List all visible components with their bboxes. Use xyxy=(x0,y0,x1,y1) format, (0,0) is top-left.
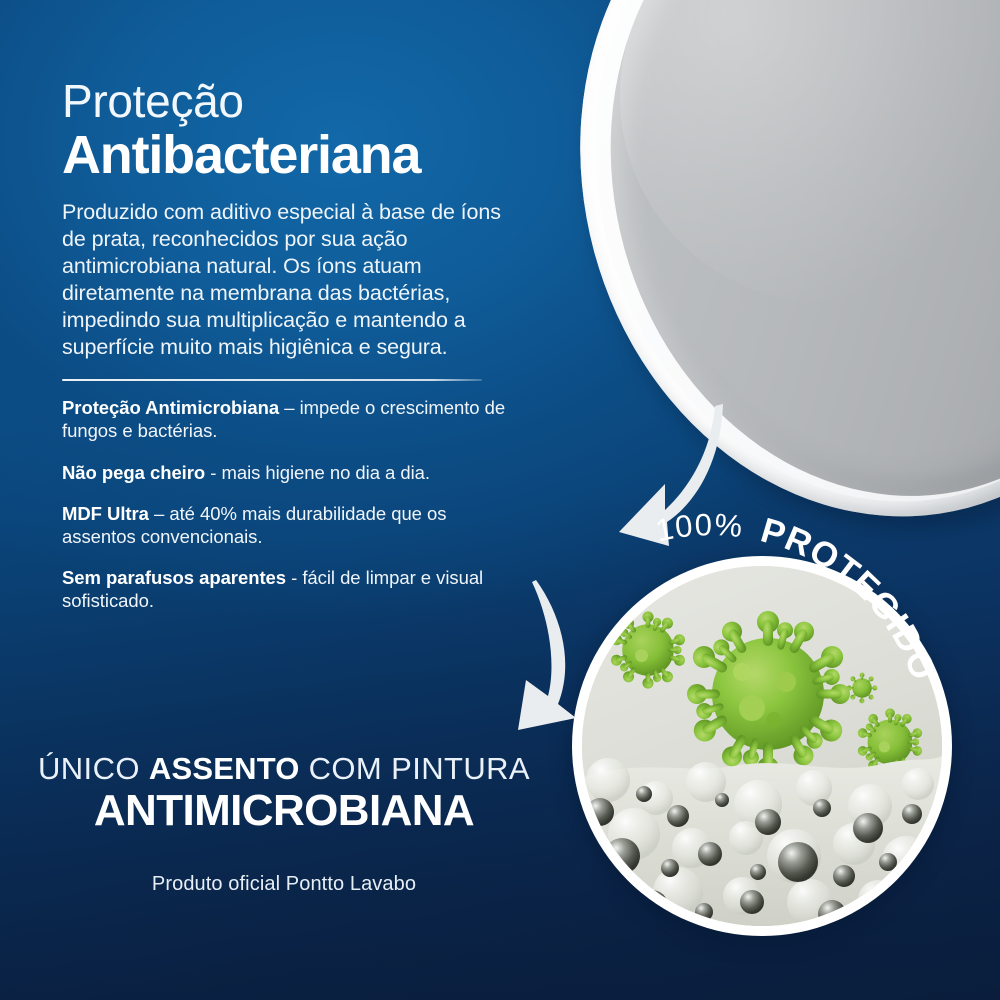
feature-list: Proteção Antimicrobiana – impede o cresc… xyxy=(62,397,514,612)
protected-badge: 100% PROTEGIDO xyxy=(622,452,1000,852)
list-item: Proteção Antimicrobiana – impede o cresc… xyxy=(62,397,514,442)
intro-paragraph: Produzido com aditivo especial à base de… xyxy=(62,199,514,361)
badge-text: 100% PROTEGIDO xyxy=(652,507,943,686)
copy-column: Proteção Antibacteriana Produzido com ad… xyxy=(62,78,514,631)
bottom-line-2: ANTIMICROBIANA xyxy=(0,788,568,835)
promo-canvas: 100% PROTEGIDO Proteção Antibacteriana P… xyxy=(0,0,1000,1000)
bottom-line1-suffix: COM PINTURA xyxy=(300,751,530,786)
feature-title: MDF Ultra xyxy=(62,503,149,524)
feature-dash: – xyxy=(149,503,169,524)
feature-dash: - xyxy=(205,462,221,483)
divider xyxy=(62,379,482,381)
badge-percent: 100% xyxy=(652,507,744,549)
page-title-bold: Antibacteriana xyxy=(62,128,514,183)
page-title-light: Proteção xyxy=(62,78,514,126)
bottom-line1-prefix: ÚNICO xyxy=(38,751,149,786)
list-item: Não pega cheiro - mais higiene no dia a … xyxy=(62,462,514,485)
list-item: MDF Ultra – até 40% mais durabilidade qu… xyxy=(62,503,514,548)
bottom-line1-bold: ASSENTO xyxy=(149,751,300,786)
badge-word: PROTEGIDO xyxy=(757,511,944,686)
feature-text: mais higiene no dia a dia. xyxy=(221,462,430,483)
feature-dash: – xyxy=(279,397,299,418)
bottom-line-1: ÚNICO ASSENTO COM PINTURA xyxy=(0,752,568,785)
bottom-subtitle: Produto oficial Pontto Lavabo xyxy=(0,873,568,896)
bottom-headline-block: ÚNICO ASSENTO COM PINTURA ANTIMICROBIANA… xyxy=(0,752,568,896)
feature-title: Proteção Antimicrobiana xyxy=(62,397,279,418)
feature-dash: - xyxy=(286,567,302,588)
list-item: Sem parafusos aparentes - fácil de limpa… xyxy=(62,567,514,612)
feature-title: Não pega cheiro xyxy=(62,462,205,483)
feature-title: Sem parafusos aparentes xyxy=(62,567,286,588)
